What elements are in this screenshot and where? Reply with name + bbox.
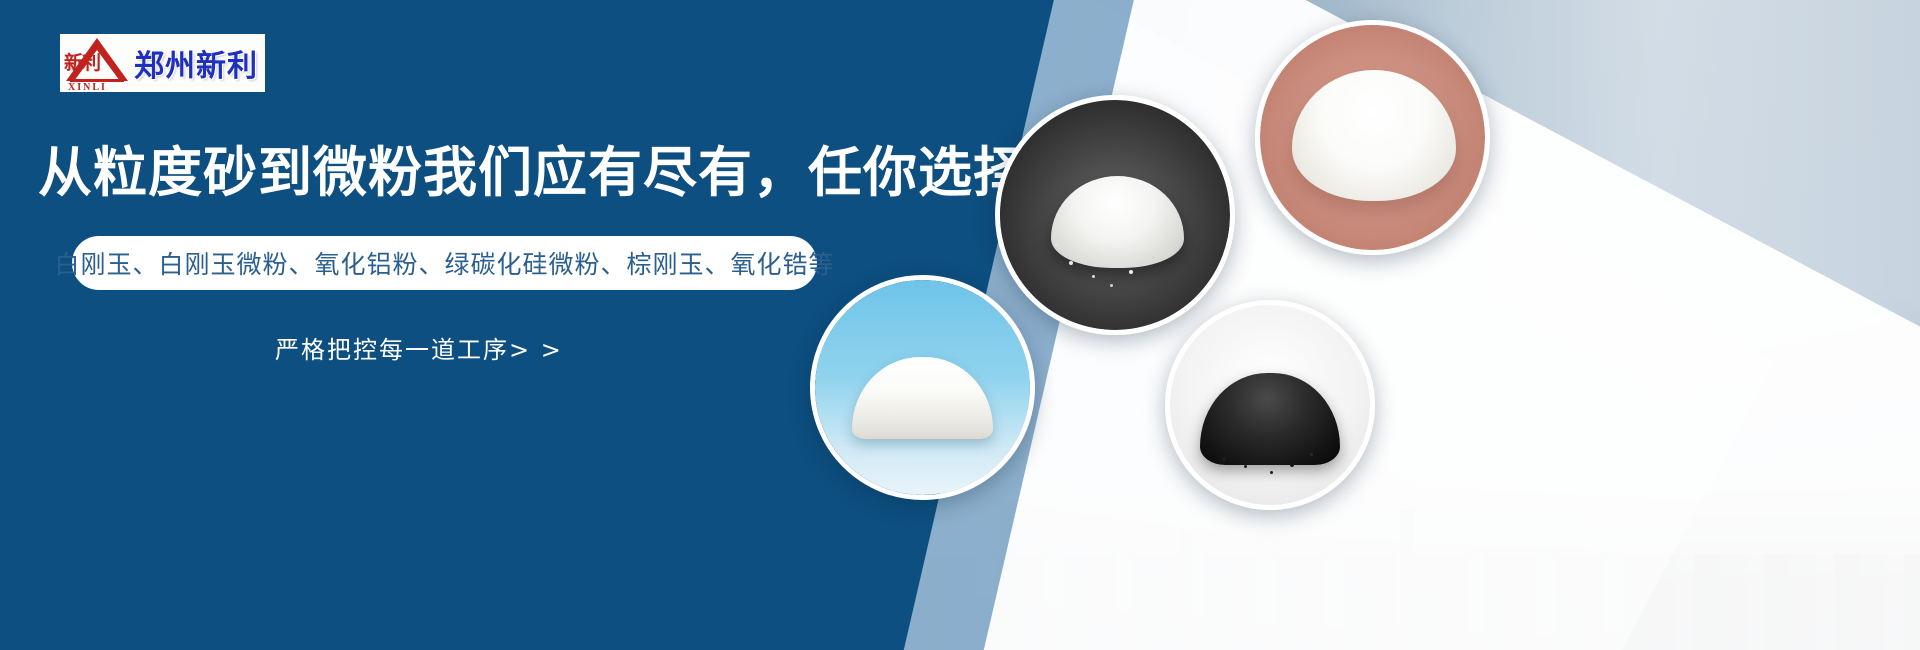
product-list-pill: 白刚玉、白刚玉微粉、氧化铝粉、绿碳化硅微粉、棕刚玉、氧化锆等: [72, 236, 817, 290]
triangle-logo-icon: 新利 XINLI: [60, 34, 134, 92]
grit-speck: [1222, 457, 1226, 461]
grit-speck: [1270, 471, 1273, 474]
powder-heap: [852, 357, 994, 439]
grit-speck: [1244, 465, 1247, 468]
grit-heap: [1200, 373, 1340, 465]
product-photo-white-powder-cone: [810, 275, 1035, 500]
logo-pinyin-text: XINLI: [68, 82, 107, 92]
company-logo[interactable]: 新利 XINLI 郑州新利: [60, 34, 265, 92]
grit-heap: [1051, 176, 1184, 268]
photo-backdrop: [1260, 25, 1485, 250]
logo-mark-characters: 新利: [64, 54, 100, 73]
promo-banner: 新利 XINLI 郑州新利 从粒度砂到微粉我们应有尽有，任你选择 白刚玉、白刚玉…: [0, 0, 1920, 650]
grit-speck: [1129, 270, 1133, 274]
photo-backdrop: [815, 280, 1030, 495]
product-photo-black-silicon-carbide: [1165, 300, 1375, 510]
photo-backdrop: [1000, 100, 1230, 330]
grit-speck: [1069, 261, 1073, 265]
grit-speck: [1092, 275, 1095, 278]
grit-speck: [1290, 463, 1294, 467]
logo-company-name: 郑州新利: [134, 41, 258, 85]
cta-link[interactable]: 严格把控每一道工序> >: [275, 330, 563, 365]
hero-headline: 从粒度砂到微粉我们应有尽有，任你选择: [38, 143, 1028, 203]
left-navy-panel: [0, 0, 860, 650]
product-photo-micro-powder: [1255, 20, 1490, 255]
product-list-text: 白刚玉、白刚玉微粉、氧化铝粉、绿碳化硅微粉、棕刚玉、氧化锆等: [55, 245, 835, 281]
grit-speck: [1310, 453, 1313, 456]
photo-backdrop: [1170, 305, 1370, 505]
grit-speck: [1055, 243, 1058, 246]
product-photo-white-grit: [995, 95, 1235, 335]
grit-speck: [1110, 284, 1113, 287]
powder-heap: [1292, 70, 1456, 201]
